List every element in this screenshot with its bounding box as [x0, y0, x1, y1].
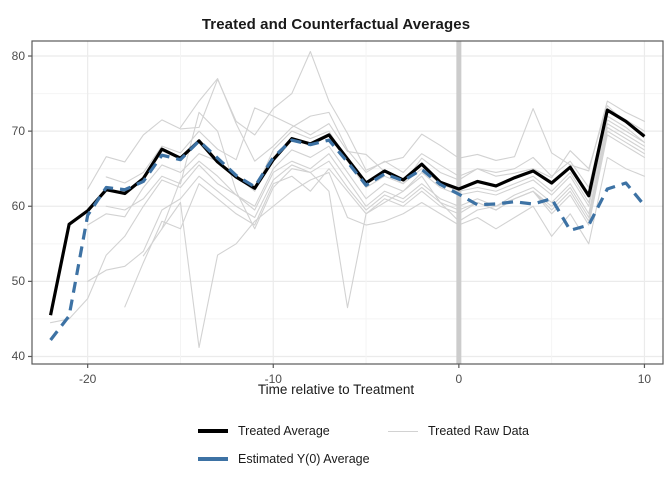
legend-item-treated-average[interactable]: Treated Average	[198, 424, 330, 438]
x-axis-title: Time relative to Treatment	[0, 382, 672, 397]
x-axis-tick-label: -10	[265, 372, 282, 386]
panel-background	[32, 41, 663, 364]
y-axis-tick-label: 40	[0, 349, 25, 363]
legend-key-treated-raw-data-icon	[388, 431, 418, 432]
legend-key-estimated-y0-average-icon	[198, 457, 228, 461]
y-axis-tick-label: 80	[0, 49, 25, 63]
y-axis-tick-label: 60	[0, 199, 25, 213]
y-axis-tick-label: 70	[0, 124, 25, 138]
legend-key-treated-average-icon	[198, 429, 228, 433]
legend-label-treated-average: Treated Average	[238, 424, 330, 438]
legend-label-treated-raw-data: Treated Raw Data	[428, 424, 529, 438]
chart-container: Treated and Counterfactual Averages Time…	[0, 0, 672, 480]
x-axis-tick-label: 10	[638, 372, 651, 386]
legend-label-estimated-y0-average: Estimated Y(0) Average	[238, 452, 370, 466]
legend: Treated Average Estimated Y(0) Average T…	[0, 418, 672, 478]
legend-item-estimated-y0-average[interactable]: Estimated Y(0) Average	[198, 452, 370, 466]
page-title: Treated and Counterfactual Averages	[0, 16, 672, 33]
y-axis-tick-label: 50	[0, 274, 25, 288]
plot-area	[0, 0, 672, 480]
x-axis-tick-label: 0	[456, 372, 463, 386]
x-axis-tick-label: -20	[79, 372, 96, 386]
legend-item-treated-raw-data[interactable]: Treated Raw Data	[388, 424, 529, 438]
